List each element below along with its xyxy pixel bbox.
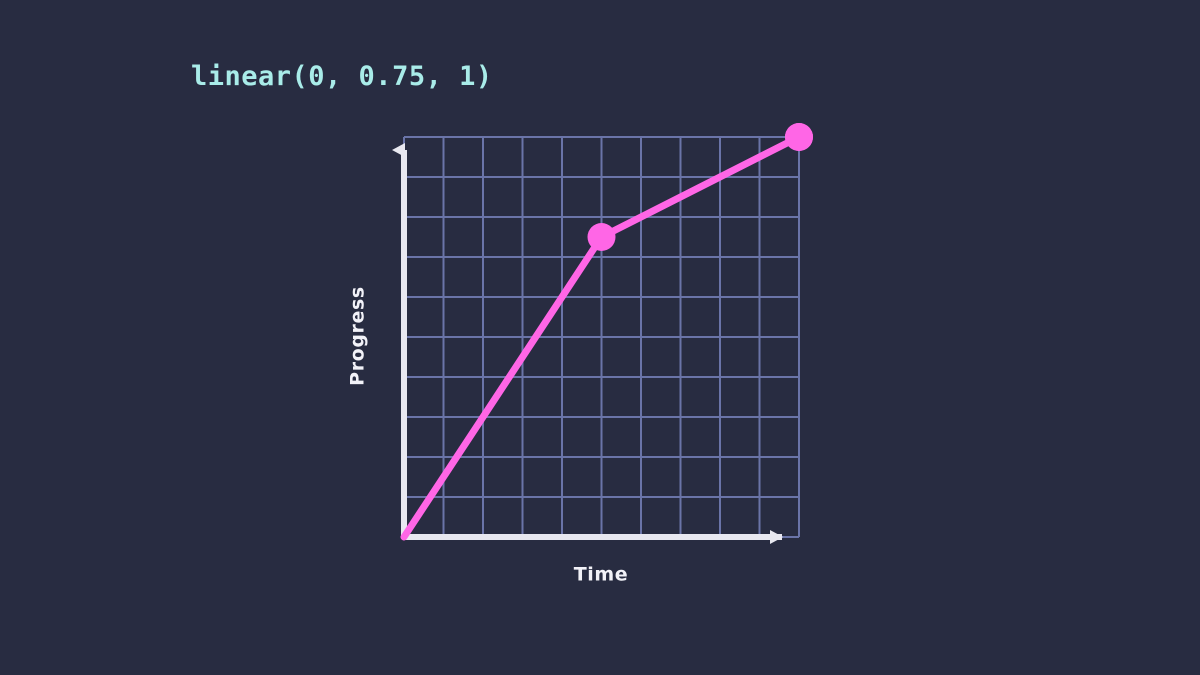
easing-curve-canvas: linear(0, 0.75, 1) Progress Time <box>0 0 1200 675</box>
axis-lines <box>404 150 782 537</box>
grid-lines <box>404 137 799 537</box>
y-axis-label: Progress <box>349 286 368 386</box>
control-point-start[interactable] <box>588 223 616 251</box>
x-axis-label: Time <box>574 566 629 585</box>
control-point-end[interactable] <box>785 123 813 151</box>
